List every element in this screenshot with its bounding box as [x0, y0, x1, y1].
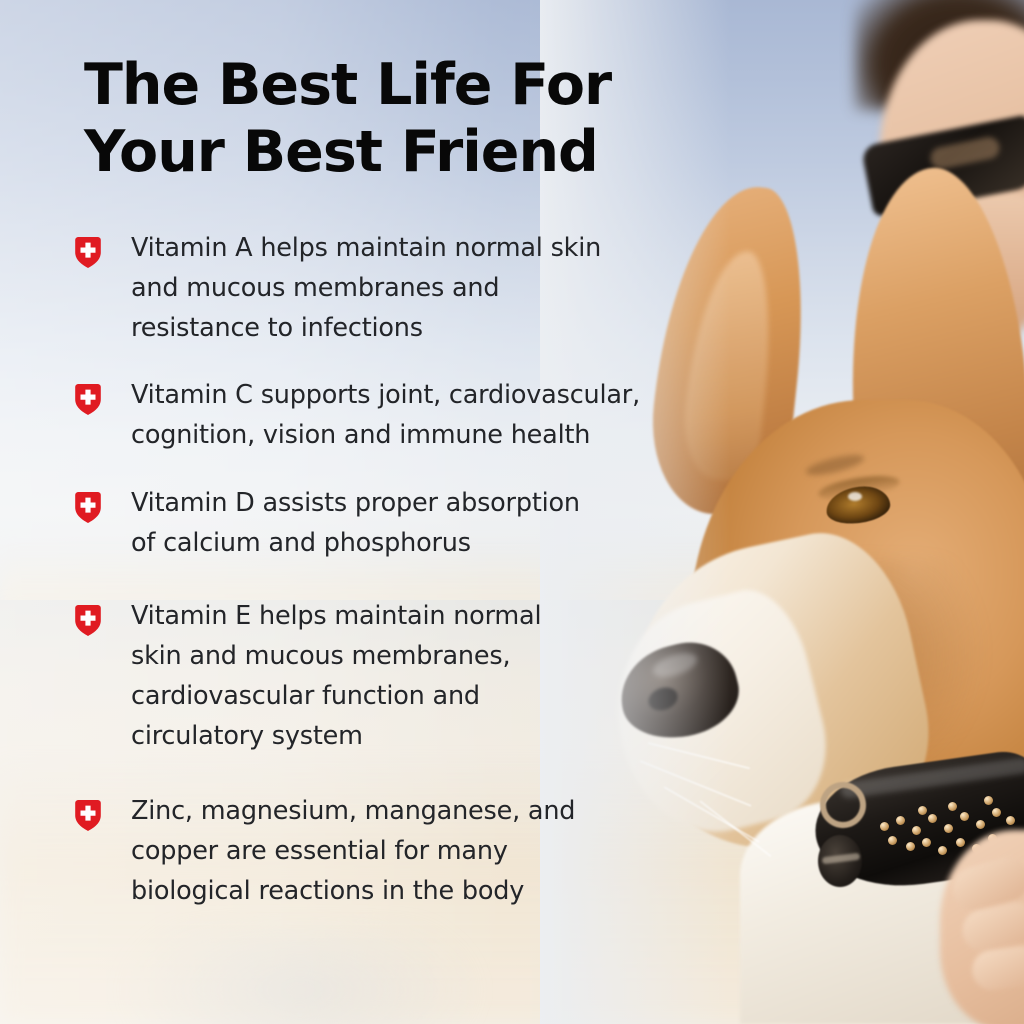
- benefit-text: Vitamin E helps maintain normal skin and…: [131, 596, 541, 756]
- list-item: Vitamin D assists proper absorption of c…: [74, 483, 654, 563]
- shield-plus-icon: [74, 799, 102, 832]
- benefit-text: Vitamin C supports joint, cardiovascular…: [131, 375, 640, 455]
- benefit-text: Zinc, magnesium, manganese, and copper a…: [131, 791, 575, 911]
- product-infographic: The Best Life For Your Best Friend Vitam…: [0, 0, 1024, 1024]
- benefit-text: Vitamin A helps maintain normal skin and…: [131, 228, 601, 348]
- shield-plus-icon: [74, 236, 102, 269]
- content-layer: The Best Life For Your Best Friend Vitam…: [0, 0, 1024, 1024]
- list-item: Vitamin E helps maintain normal skin and…: [74, 596, 654, 756]
- benefits-list: Vitamin A helps maintain normal skin and…: [74, 228, 654, 911]
- list-item: Zinc, magnesium, manganese, and copper a…: [74, 791, 654, 911]
- shield-plus-icon: [74, 604, 102, 637]
- benefit-text: Vitamin D assists proper absorption of c…: [131, 483, 580, 563]
- shield-plus-icon: [74, 383, 102, 416]
- page-title: The Best Life For Your Best Friend: [84, 52, 664, 187]
- list-item: Vitamin C supports joint, cardiovascular…: [74, 375, 654, 455]
- list-item: Vitamin A helps maintain normal skin and…: [74, 228, 654, 348]
- shield-plus-icon: [74, 491, 102, 524]
